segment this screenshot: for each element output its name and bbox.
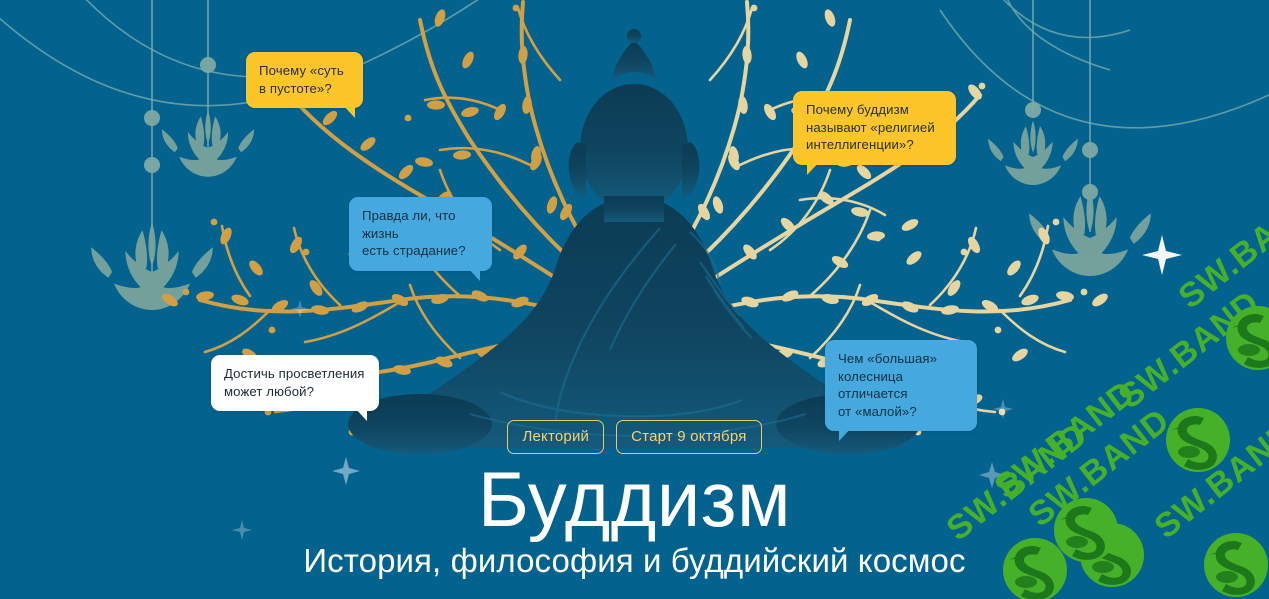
bubble-line: Почему «суть xyxy=(259,62,350,80)
hero-block: Лекторий Старт 9 октября Буддизм История… xyxy=(0,420,1269,580)
poster-canvas: Почему «суть в пустоте»? Почему буддизм … xyxy=(0,0,1269,599)
bubble-line: Чем «большая» xyxy=(838,350,964,368)
bubble-line: от «малой»? xyxy=(838,403,964,421)
speech-bubble-great-vs-small-vehicle[interactable]: Чем «большая» колесница отличается от «м… xyxy=(825,340,977,431)
bubble-line: есть страдание? xyxy=(362,242,479,260)
badge-row: Лекторий Старт 9 октября xyxy=(0,420,1269,454)
bubble-tail xyxy=(353,406,367,421)
speech-bubble-why-emptiness[interactable]: Почему «суть в пустоте»? xyxy=(246,52,363,108)
bubble-line: интеллигенции»? xyxy=(806,136,943,154)
page-subtitle: История, философия и буддийский космос xyxy=(0,542,1269,580)
speech-bubble-life-is-suffering[interactable]: Правда ли, что жизнь есть страдание? xyxy=(349,197,492,271)
speech-bubble-enlightenment-for-anyone[interactable]: Достичь просветления может любой? xyxy=(211,355,379,411)
badge-lectorium[interactable]: Лекторий xyxy=(507,420,604,454)
bubble-tail xyxy=(807,160,821,175)
speech-bubble-religion-of-intelligentsia[interactable]: Почему буддизм называют «религией интелл… xyxy=(793,91,956,165)
bubble-line: Достичь просветления xyxy=(224,365,366,383)
bubble-line: может любой? xyxy=(224,383,366,401)
bubble-tail xyxy=(466,266,480,281)
page-title: Буддизм xyxy=(0,462,1269,536)
bubble-line: Правда ли, что жизнь xyxy=(362,207,479,242)
bubble-line: в пустоте»? xyxy=(259,80,350,98)
bubble-tail xyxy=(341,103,355,118)
bubble-line: Почему буддизм xyxy=(806,101,943,119)
badge-start-date[interactable]: Старт 9 октября xyxy=(616,420,761,454)
bubble-line: называют «религией xyxy=(806,119,943,137)
bubble-line: колесница отличается xyxy=(838,368,964,403)
